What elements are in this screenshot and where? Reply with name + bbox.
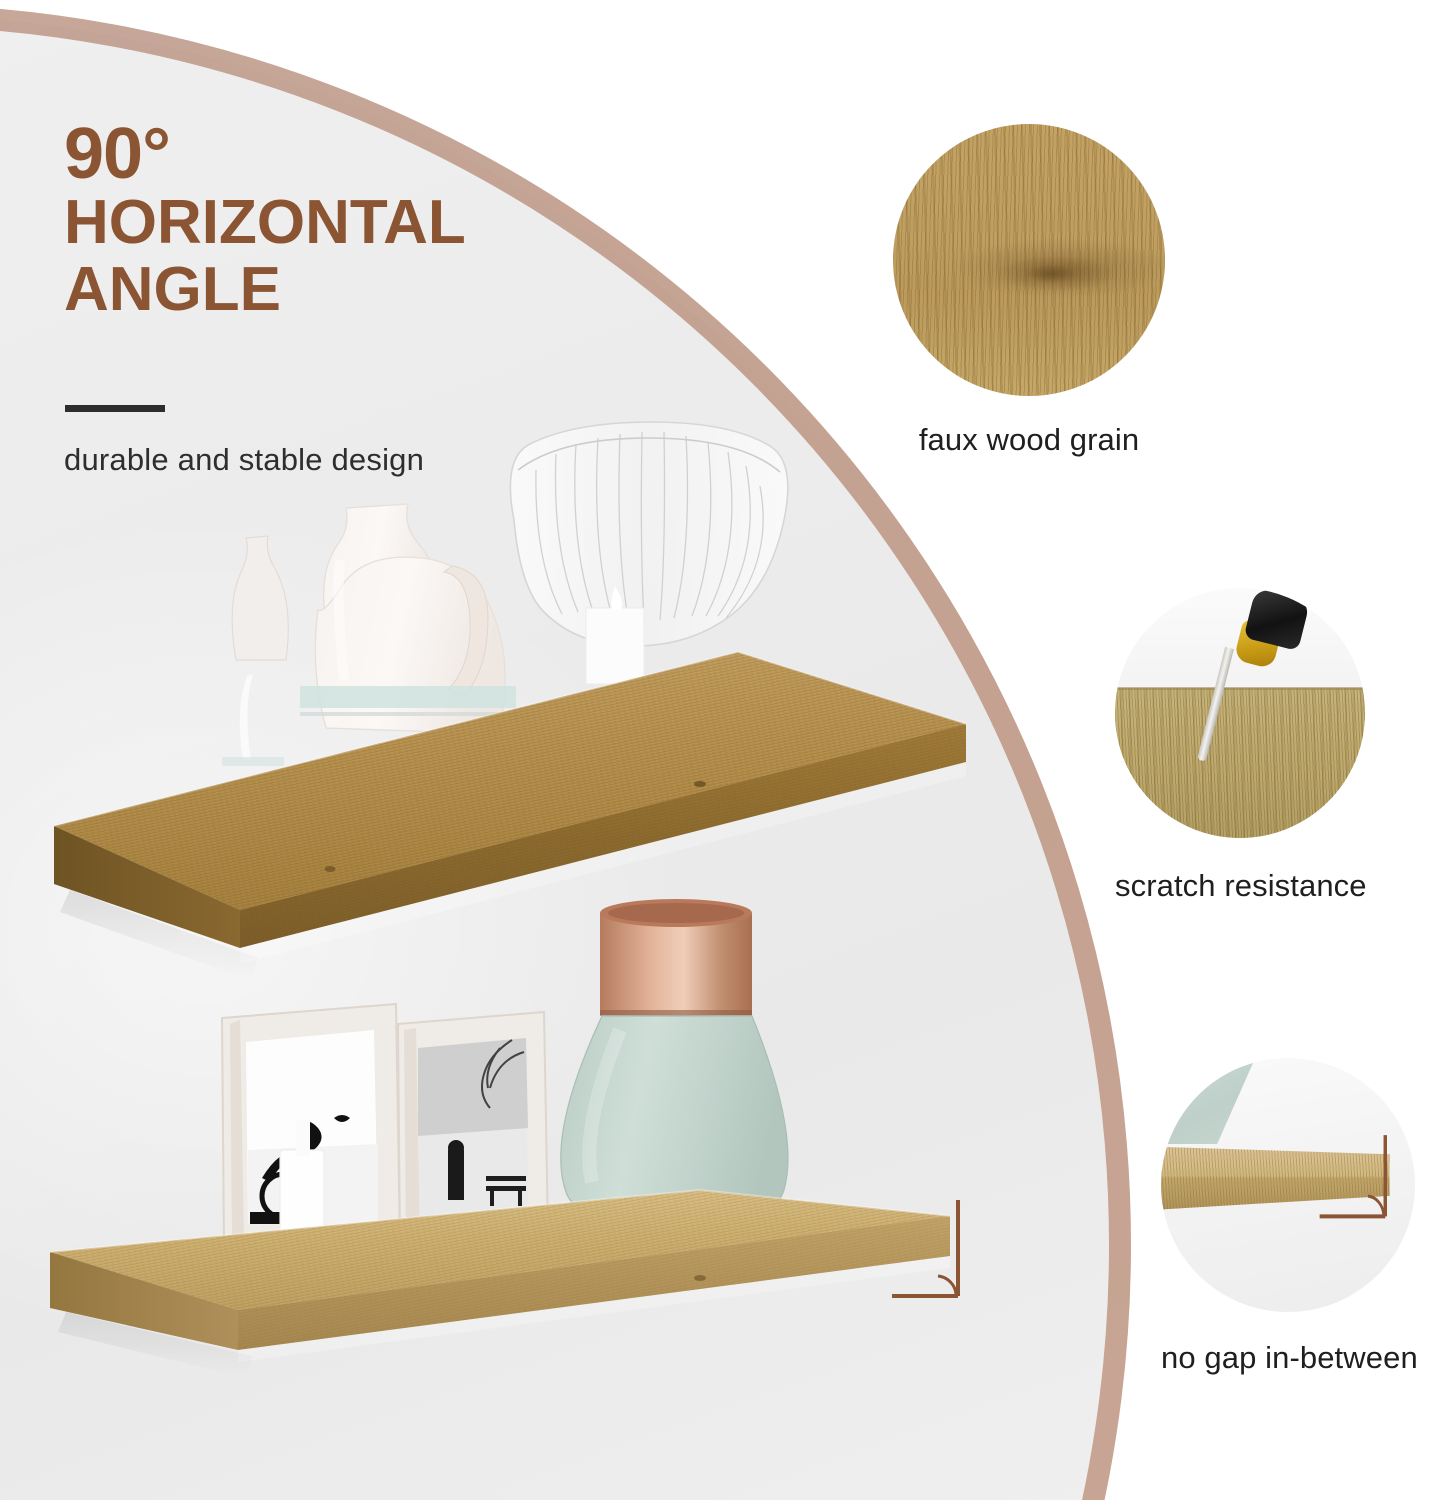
feature-caption-no-gap-in-between: no gap in-between (1161, 1340, 1415, 1376)
gap-right-angle-indicator (1311, 1129, 1397, 1231)
small-white-vase (222, 536, 288, 766)
wood-grain-swatch-icon (893, 124, 1165, 396)
lower-shelf-group (50, 899, 958, 1378)
scratch-board-bg (1115, 688, 1365, 838)
feature-no-gap-in-between: no gap in-between (1161, 1058, 1415, 1376)
ribbed-glass-vase (510, 422, 787, 646)
gap-vase-corner (1161, 1058, 1258, 1144)
feature-faux-wood-grain: faux wood grain (893, 124, 1165, 458)
lower-shelf-board (50, 1190, 950, 1362)
feature-scratch-resistance: scratch resistance (1115, 588, 1365, 904)
feature-caption-faux-wood-grain: faux wood grain (893, 422, 1165, 458)
infographic-canvas: 90° HORIZONTAL ANGLE durable and stable … (0, 0, 1445, 1500)
feature-caption-scratch-resistance: scratch resistance (1115, 868, 1365, 904)
screwdriver-on-wood-icon (1115, 588, 1365, 838)
shelf-flush-to-wall-icon (1161, 1058, 1415, 1312)
scratch-board-edge (1115, 687, 1365, 690)
mint-copper-vase (561, 899, 788, 1230)
upper-shelf-group (54, 422, 966, 980)
white-jug-vase (300, 504, 516, 734)
